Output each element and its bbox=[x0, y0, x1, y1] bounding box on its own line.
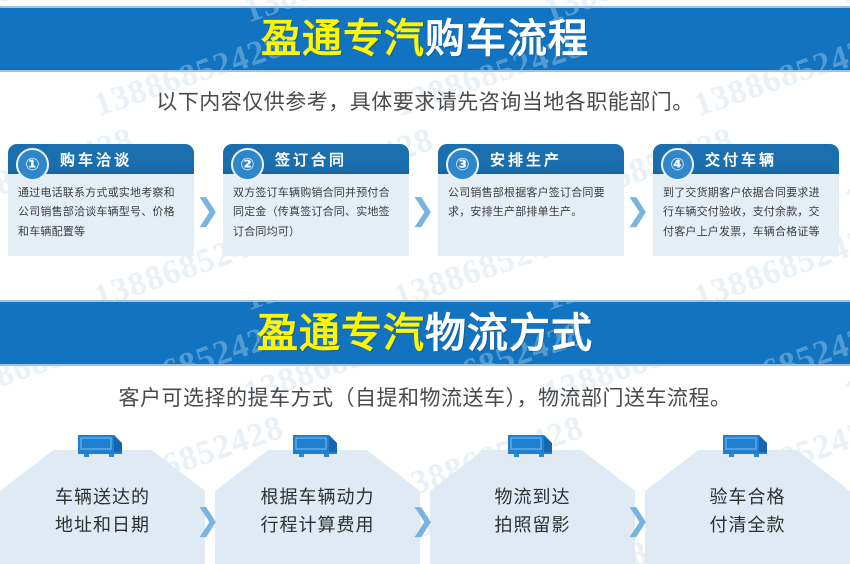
step-card-3-title: 安排生产 bbox=[490, 149, 562, 170]
step-card-1: ① 购车洽谈 通过电话联系方式或实地考察和公司销售部洽谈车辆型号、价格和车辆配置… bbox=[8, 144, 194, 256]
logistics-card-1: 车辆送达的 地址和日期 bbox=[0, 432, 205, 564]
logistics-card-2-text: 根据车辆动力 行程计算费用 bbox=[215, 484, 420, 540]
logistics-card-2: 根据车辆动力 行程计算费用 bbox=[215, 432, 420, 564]
step-card-1-body: 通过电话联系方式或实地考察和公司销售部洽谈车辆型号、价格和车辆配置等 bbox=[8, 174, 194, 256]
logistics-card-2-line1: 根据车辆动力 bbox=[215, 484, 420, 512]
banner-purchase-title: 盈通专汽购车流程 bbox=[261, 19, 589, 59]
brand-name: 盈通专汽 bbox=[257, 309, 425, 357]
step-arrow-icon: ❯ bbox=[625, 196, 650, 226]
brand-name: 盈通专汽 bbox=[261, 16, 425, 62]
step-card-2: ② 签订合同 双方签订车辆购销合同并预付合同定金（传真签订合同、实地签订合同均可… bbox=[223, 144, 409, 256]
step-arrow-icon: ❯ bbox=[195, 196, 220, 226]
step-card-4-header: ④ 交付车辆 bbox=[653, 144, 839, 174]
logistics-card-4-line2: 付清全款 bbox=[645, 512, 850, 540]
step-card-1-title: 购车洽谈 bbox=[60, 149, 132, 170]
logistics-card-3: 物流到达 拍照留影 bbox=[430, 432, 635, 564]
logistics-card-4: 验车合格 付清全款 bbox=[645, 432, 850, 564]
banner-purchase-flow: 1388685242813886852428138868524281388685… bbox=[0, 6, 850, 72]
logistics-subtitle: 客户可选择的提车方式（自提和物流送车），物流部门送车流程。 bbox=[0, 382, 850, 412]
logistics-card-4-line1: 验车合格 bbox=[645, 484, 850, 512]
step-number-badge: ③ bbox=[446, 148, 479, 181]
step-number-badge: ④ bbox=[661, 148, 694, 181]
step-card-2-header: ② 签订合同 bbox=[223, 144, 409, 174]
banner-purchase-subject: 购车流程 bbox=[425, 16, 589, 62]
step-card-4-body: 到了交货期客户依据合同要求进行车辆交付验收，支付余款，交付客户上户发票，车辆合格… bbox=[653, 174, 839, 256]
purchase-subtitle: 以下内容仅供参考，具体要求请先咨询当地各职能部门。 bbox=[0, 86, 850, 116]
truck-icon bbox=[291, 432, 345, 460]
step-card-4-title: 交付车辆 bbox=[705, 149, 777, 170]
logistics-steps-row: 车辆送达的 地址和日期 根据车辆动力 行程计算费用 bbox=[0, 432, 850, 564]
truck-icon bbox=[76, 432, 130, 460]
logistics-arrow-icon: ❯ bbox=[625, 506, 650, 536]
logistics-card-3-text: 物流到达 拍照留影 bbox=[430, 484, 635, 540]
infographic-page: 1388685242813886852428138868524281388685… bbox=[0, 0, 850, 564]
step-card-2-title: 签订合同 bbox=[275, 149, 347, 170]
logistics-card-1-line1: 车辆送达的 bbox=[0, 484, 205, 512]
banner-logistics: 1388685242813886852428138868524281388685… bbox=[0, 300, 850, 366]
step-number-badge: ② bbox=[231, 148, 264, 181]
step-card-2-body: 双方签订车辆购销合同并预付合同定金（传真签订合同、实地签订合同均可） bbox=[223, 174, 409, 256]
logistics-card-1-text: 车辆送达的 地址和日期 bbox=[0, 484, 205, 540]
step-number-badge: ① bbox=[16, 148, 49, 181]
step-card-4: ④ 交付车辆 到了交货期客户依据合同要求进行车辆交付验收，支付余款，交付客户上户… bbox=[653, 144, 839, 256]
logistics-card-1-line2: 地址和日期 bbox=[0, 512, 205, 540]
banner-logistics-title: 盈通专汽物流方式 bbox=[257, 313, 593, 354]
step-card-3-body: 公司销售部根据客户签订合同要求，安排生产部排单生产。 bbox=[438, 174, 624, 256]
step-card-1-header: ① 购车洽谈 bbox=[8, 144, 194, 174]
logistics-card-3-line1: 物流到达 bbox=[430, 484, 635, 512]
truck-icon bbox=[506, 432, 560, 460]
logistics-card-2-line2: 行程计算费用 bbox=[215, 512, 420, 540]
step-card-3: ③ 安排生产 公司销售部根据客户签订合同要求，安排生产部排单生产。 bbox=[438, 144, 624, 256]
truck-icon bbox=[721, 432, 775, 460]
logistics-arrow-icon: ❯ bbox=[410, 506, 435, 536]
step-card-3-header: ③ 安排生产 bbox=[438, 144, 624, 174]
logistics-card-3-line2: 拍照留影 bbox=[430, 512, 635, 540]
logistics-card-4-text: 验车合格 付清全款 bbox=[645, 484, 850, 540]
banner-logistics-subject: 物流方式 bbox=[425, 309, 593, 357]
step-arrow-icon: ❯ bbox=[410, 196, 435, 226]
logistics-arrow-icon: ❯ bbox=[195, 506, 220, 536]
